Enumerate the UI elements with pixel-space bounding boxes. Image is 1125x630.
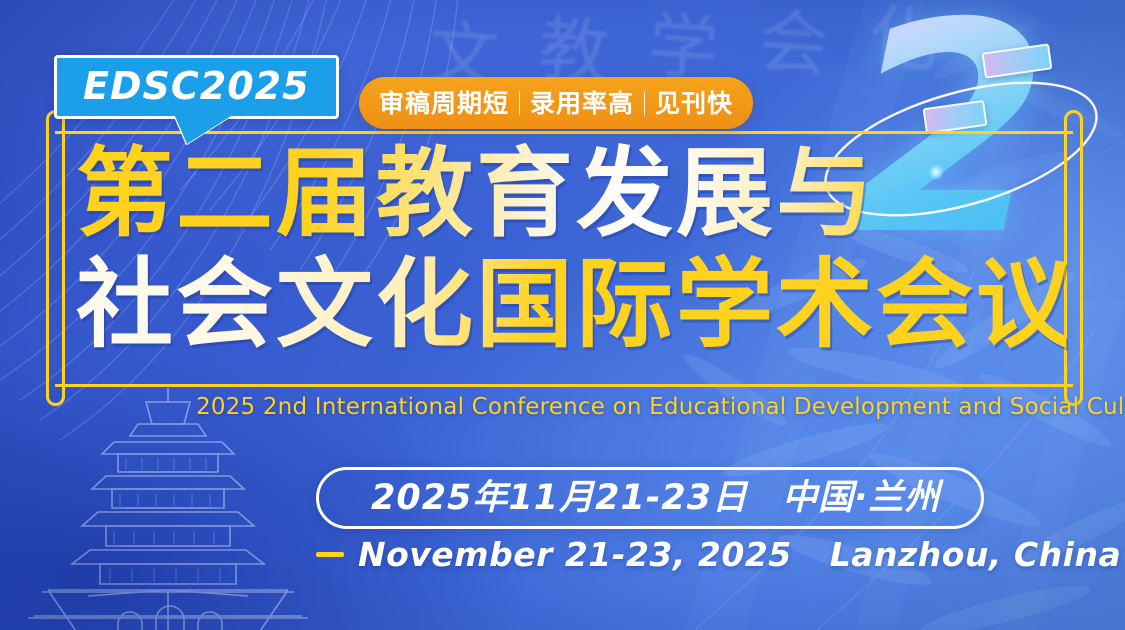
main-title-block: 第二届教育发展与 社会文化国际学术会议 xyxy=(76,140,1066,359)
badge-label: EDSC2025 xyxy=(83,67,310,105)
city-cn: 中国·兰州 xyxy=(782,481,940,516)
title-line-1: 第二届教育发展与 xyxy=(76,140,1066,249)
badge-body: EDSC2025 xyxy=(54,55,339,119)
conference-code-badge: EDSC2025 xyxy=(54,55,339,119)
dash-marker xyxy=(316,552,344,557)
pill-separator-1 xyxy=(519,91,520,115)
title-line-2: 社会文化国际学术会议 xyxy=(76,251,1066,360)
highlight-item-3: 见刊快 xyxy=(655,91,733,116)
date-cn: 2025年11月21-23日 xyxy=(371,481,748,516)
date-location-box: 2025年11月21-23日 中国·兰州 xyxy=(316,467,984,529)
city-en: Lanzhou, China xyxy=(830,538,1121,571)
frame-left-bar xyxy=(46,110,65,406)
pill-separator-2 xyxy=(644,91,645,115)
date-location-en-row: November 21-23, 2025 Lanzhou, China xyxy=(316,538,1121,571)
highlights-pill: 审稿周期短 录用率高 见刊快 xyxy=(359,77,753,129)
english-subtitle: 2025 2nd International Conference on Edu… xyxy=(196,394,1125,420)
highlight-item-2: 录用率高 xyxy=(530,91,634,116)
conference-banner: 文教学会化 xyxy=(0,0,1125,630)
date-en: November 21-23, 2025 xyxy=(358,538,792,571)
frame-bottom-line xyxy=(55,384,1073,387)
highlight-item-1: 审稿周期短 xyxy=(379,91,509,116)
